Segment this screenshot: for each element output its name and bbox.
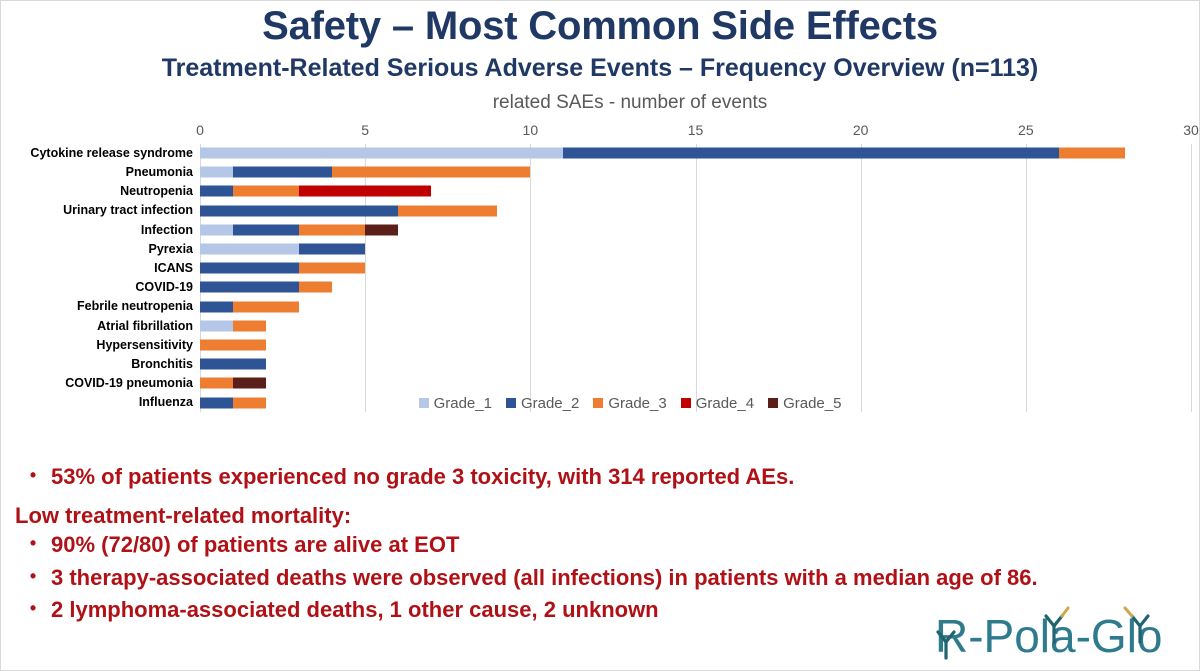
bar-track xyxy=(200,182,1189,201)
bar-segment-grade_3[interactable] xyxy=(299,282,332,293)
category-label: COVID-19 pneumonia xyxy=(1,377,193,390)
chart-row: Bronchitis xyxy=(1,355,1199,374)
bar-track xyxy=(200,316,1189,335)
bar-segment-grade_3[interactable] xyxy=(233,320,266,331)
note-text: 3 therapy-associated deaths were observe… xyxy=(51,564,1038,592)
chart-row: Neutropenia xyxy=(1,182,1199,201)
legend-swatch-icon xyxy=(681,398,691,408)
legend-label: Grade_1 xyxy=(434,395,492,412)
bar-segment-grade_3[interactable] xyxy=(299,224,365,235)
category-label: Infection xyxy=(1,224,193,237)
legend-item-grade_1[interactable]: Grade_1 xyxy=(419,395,492,412)
bar-segment-grade_2[interactable] xyxy=(200,359,266,370)
sae-bar-chart: related SAEs - number of events 05101520… xyxy=(1,92,1199,412)
chart-row: ICANS xyxy=(1,259,1199,278)
bar-segment-grade_2[interactable] xyxy=(233,224,299,235)
bar-track xyxy=(200,278,1189,297)
note-text: 2 lymphoma-associated deaths, 1 other ca… xyxy=(51,596,659,624)
bar-segment-grade_1[interactable] xyxy=(200,148,563,159)
category-label: Urinary tract infection xyxy=(1,204,193,217)
bar-segment-grade_5[interactable] xyxy=(233,378,266,389)
note-bullet: •90% (72/80) of patients are alive at EO… xyxy=(15,531,1185,559)
x-axis-tick-5: 5 xyxy=(361,122,369,138)
bar-segment-grade_2[interactable] xyxy=(200,301,233,312)
legend-item-grade_2[interactable]: Grade_2 xyxy=(506,395,579,412)
bar-segment-grade_4[interactable] xyxy=(299,186,431,197)
page-title: Safety – Most Common Side Effects xyxy=(1,5,1199,47)
page-subtitle: Treatment-Related Serious Adverse Events… xyxy=(1,55,1199,83)
category-label: Atrial fibrillation xyxy=(1,320,193,333)
bullet-dot-icon: • xyxy=(15,531,51,555)
bar-segment-grade_2[interactable] xyxy=(563,148,1059,159)
bar-segment-grade_1[interactable] xyxy=(200,224,233,235)
bar-segment-grade_3[interactable] xyxy=(200,378,233,389)
x-axis-tick-labels: 051015202530 xyxy=(1,122,1199,140)
bullet-dot-icon: • xyxy=(15,564,51,588)
slide: Safety – Most Common Side Effects Treatm… xyxy=(0,0,1200,671)
bar-track xyxy=(200,374,1189,393)
bar-track xyxy=(200,163,1189,182)
legend-item-grade_3[interactable]: Grade_3 xyxy=(593,395,666,412)
bar-track xyxy=(200,355,1189,374)
legend-swatch-icon xyxy=(506,398,516,408)
note-text: 90% (72/80) of patients are alive at EOT xyxy=(51,531,459,559)
bullet-dot-icon: • xyxy=(15,463,51,487)
bar-segment-grade_5[interactable] xyxy=(365,224,398,235)
bar-segment-grade_2[interactable] xyxy=(233,167,332,178)
x-axis-tick-25: 25 xyxy=(1018,122,1034,138)
bar-track xyxy=(200,201,1189,220)
bar-track xyxy=(200,259,1189,278)
category-label: ICANS xyxy=(1,262,193,275)
chart-title: related SAEs - number of events xyxy=(61,92,1199,114)
chart-row: Atrial fibrillation xyxy=(1,316,1199,335)
bar-segment-grade_3[interactable] xyxy=(332,167,530,178)
bar-segment-grade_3[interactable] xyxy=(1059,148,1125,159)
legend-swatch-icon xyxy=(419,398,429,408)
bar-segment-grade_2[interactable] xyxy=(200,186,233,197)
bar-track xyxy=(200,297,1189,316)
bar-segment-grade_2[interactable] xyxy=(299,244,365,255)
category-label: COVID-19 xyxy=(1,281,193,294)
legend-swatch-icon xyxy=(593,398,603,408)
bar-segment-grade_1[interactable] xyxy=(200,167,233,178)
bar-segment-grade_3[interactable] xyxy=(233,186,299,197)
legend-label: Grade_3 xyxy=(608,395,666,412)
bar-segment-grade_2[interactable] xyxy=(200,205,398,216)
x-axis-tick-30: 30 xyxy=(1183,122,1199,138)
bar-segment-grade_1[interactable] xyxy=(200,320,233,331)
bar-segment-grade_3[interactable] xyxy=(299,263,365,274)
chart-row: Hypersensitivity xyxy=(1,335,1199,354)
category-label: Neutropenia xyxy=(1,185,193,198)
bar-segment-grade_3[interactable] xyxy=(398,205,497,216)
note-bullet: •3 therapy-associated deaths were observ… xyxy=(15,564,1185,592)
legend-label: Grade_2 xyxy=(521,395,579,412)
bar-segment-grade_2[interactable] xyxy=(200,263,299,274)
category-label: Bronchitis xyxy=(1,358,193,371)
bar-track xyxy=(200,335,1189,354)
chart-row: Urinary tract infection xyxy=(1,201,1199,220)
bar-track xyxy=(200,220,1189,239)
bar-segment-grade_1[interactable] xyxy=(200,244,299,255)
bar-segment-grade_3[interactable] xyxy=(233,301,299,312)
chart-legend: Grade_1Grade_2Grade_3Grade_4Grade_5 xyxy=(1,395,1199,412)
category-label: Hypersensitivity xyxy=(1,339,193,352)
x-axis-tick-15: 15 xyxy=(688,122,704,138)
legend-swatch-icon xyxy=(768,398,778,408)
category-label: Pneumonia xyxy=(1,166,193,179)
chart-rows: Cytokine release syndromePneumoniaNeutro… xyxy=(1,144,1199,413)
chart-plot-wrapper: 051015202530 Cytokine release syndromePn… xyxy=(1,122,1199,412)
chart-row: Pyrexia xyxy=(1,239,1199,258)
category-label: Febrile neutropenia xyxy=(1,300,193,313)
chart-plot-area: Cytokine release syndromePneumoniaNeutro… xyxy=(1,144,1199,412)
legend-label: Grade_5 xyxy=(783,395,841,412)
bar-track xyxy=(200,239,1189,258)
logo-artwork: R-Pola-Glo xyxy=(935,604,1185,666)
bullet-dot-icon: • xyxy=(15,596,51,620)
chart-row: Pneumonia xyxy=(1,163,1199,182)
chart-row: Febrile neutropenia xyxy=(1,297,1199,316)
chart-row: Cytokine release syndrome xyxy=(1,144,1199,163)
legend-item-grade_4[interactable]: Grade_4 xyxy=(681,395,754,412)
x-axis-tick-20: 20 xyxy=(853,122,869,138)
legend-label: Grade_4 xyxy=(696,395,754,412)
x-axis-tick-0: 0 xyxy=(196,122,204,138)
bar-track xyxy=(200,144,1189,163)
note-bullet: •53% of patients experienced no grade 3 … xyxy=(15,463,1185,491)
chart-row: COVID-19 pneumonia xyxy=(1,374,1199,393)
x-axis-tick-10: 10 xyxy=(523,122,539,138)
bar-segment-grade_3[interactable] xyxy=(200,339,266,350)
category-label: Cytokine release syndrome xyxy=(1,147,193,160)
chart-row: Infection xyxy=(1,220,1199,239)
category-label: Pyrexia xyxy=(1,243,193,256)
bar-segment-grade_2[interactable] xyxy=(200,282,299,293)
r-pola-glo-logo: R-Pola-Glo xyxy=(935,604,1185,666)
chart-row: COVID-19 xyxy=(1,278,1199,297)
legend-item-grade_5[interactable]: Grade_5 xyxy=(768,395,841,412)
note-heading: Low treatment-related mortality: xyxy=(15,502,1185,530)
note-text: 53% of patients experienced no grade 3 t… xyxy=(51,463,794,491)
